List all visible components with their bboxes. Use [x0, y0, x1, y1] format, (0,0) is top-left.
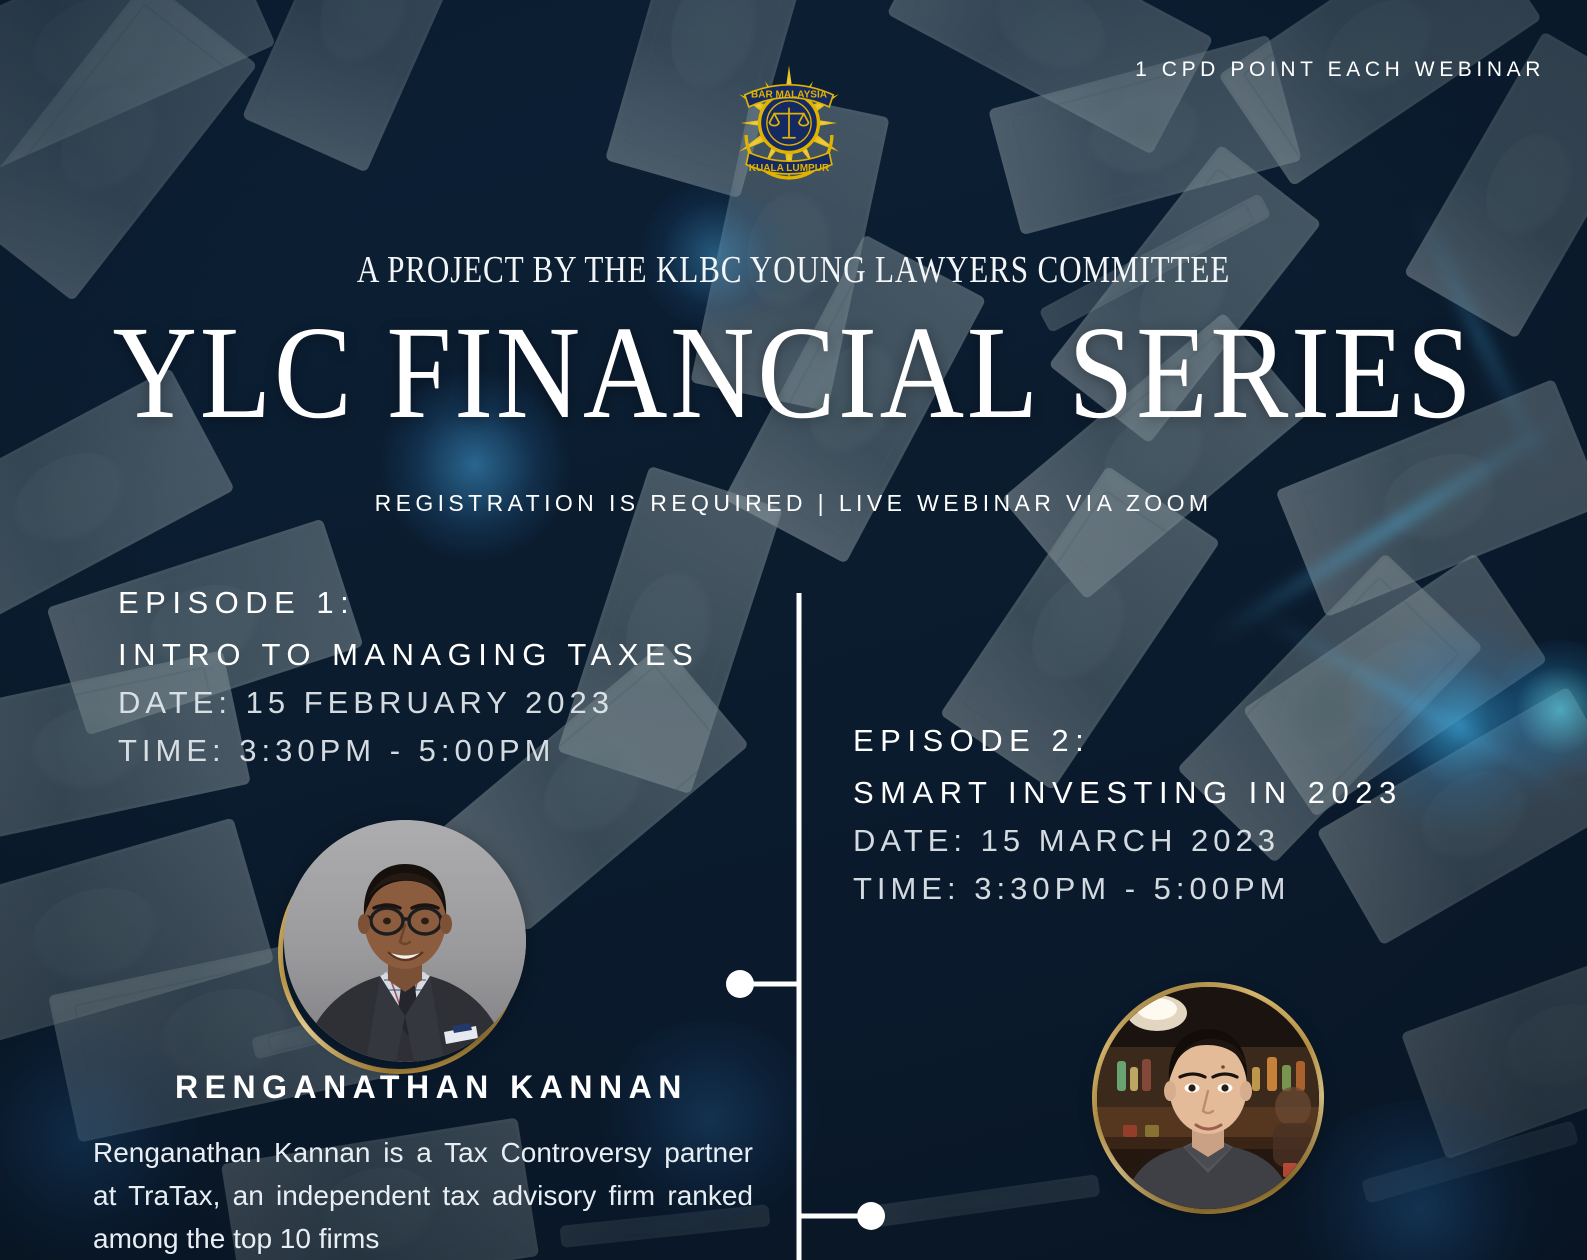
episode-2-label: EPISODE 2: [853, 723, 1403, 759]
episode-1-block: EPISODE 1: INTRO TO MANAGING TAXES DATE:… [118, 585, 699, 769]
connector-dot-right [857, 1202, 885, 1230]
project-by-line: A PROJECT BY THE KLBC YOUNG LAWYERS COMM… [143, 248, 1444, 292]
speaker-1-photo [270, 810, 540, 1080]
speaker-name: RENGANATHAN KANNAN [175, 1069, 688, 1106]
episode-2-time: TIME: 3:30PM - 5:00PM [853, 871, 1403, 907]
cpd-point-note: 1 CPD POINT EACH WEBINAR [1135, 58, 1545, 82]
poster-canvas: BAR MALAYSIA KUALA LUMPUR 1 CPD POINT EA… [0, 0, 1587, 1260]
registration-note: REGISTRATION IS REQUIRED | LIVE WEBINAR … [0, 490, 1587, 517]
page-title: YLC FINANCIAL SERIES [95, 306, 1492, 439]
episode-1-time: TIME: 3:30PM - 5:00PM [118, 733, 699, 769]
speaker-2-portrait [1097, 987, 1319, 1209]
speaker-1-portrait [284, 820, 526, 1062]
speaker-2-photo [1088, 978, 1328, 1228]
episode-2-block: EPISODE 2: SMART INVESTING IN 2023 DATE:… [853, 723, 1403, 907]
episode-2-title: SMART INVESTING IN 2023 [853, 775, 1403, 811]
episode-1-title: INTRO TO MANAGING TAXES [118, 637, 699, 673]
content-layer: BAR MALAYSIA KUALA LUMPUR 1 CPD POINT EA… [0, 0, 1587, 1260]
crest-icon: BAR MALAYSIA KUALA LUMPUR [722, 56, 856, 190]
crest-bottom-banner-text: KUALA LUMPUR [749, 163, 830, 174]
bar-malaysia-crest: BAR MALAYSIA KUALA LUMPUR [722, 56, 856, 190]
portrait-illustration-1 [284, 820, 526, 1062]
speaker-bio: Renganathan Kannan is a Tax Controversy … [93, 1131, 753, 1260]
episode-1-date: DATE: 15 FEBRUARY 2023 [118, 685, 699, 721]
episode-1-label: EPISODE 1: [118, 585, 699, 621]
episode-2-date: DATE: 15 MARCH 2023 [853, 823, 1403, 859]
crest-top-banner-text: BAR MALAYSIA [751, 90, 827, 101]
portrait-illustration-2 [1097, 987, 1319, 1209]
connector-dot-left [726, 970, 754, 998]
